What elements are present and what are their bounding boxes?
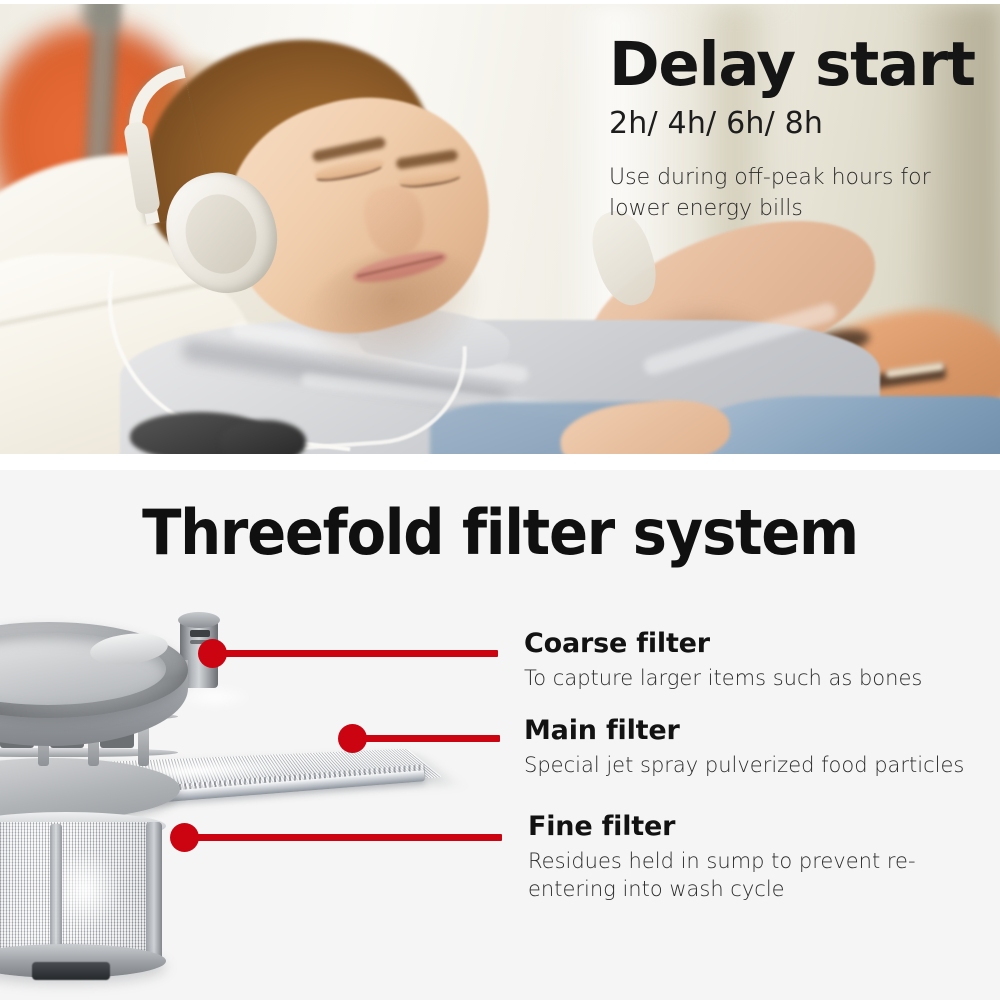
callout-dot-main bbox=[338, 724, 367, 753]
fine-filter-title: Fine filter bbox=[528, 811, 998, 843]
filter-post-slot bbox=[190, 630, 210, 637]
main-filter-title: Main filter bbox=[524, 715, 994, 747]
product-feature-page: Delay start 2h/ 4h/ 6h/ 8h Use during of… bbox=[0, 0, 1000, 1000]
fine-filter-frame bbox=[146, 822, 162, 964]
main-filter-text: Main filter Special jet spray pulverized… bbox=[524, 715, 994, 779]
denim-jeans bbox=[700, 396, 1000, 454]
callout-line-coarse bbox=[212, 650, 498, 657]
second-headphones-cup bbox=[220, 420, 306, 454]
panel-divider bbox=[0, 454, 1000, 470]
filter-system-panel: Threefold filter system bbox=[0, 470, 1000, 1000]
callout-dot-fine bbox=[170, 823, 199, 852]
callout-dot-coarse bbox=[198, 639, 227, 668]
callout-line-fine bbox=[184, 834, 502, 841]
filter-assembly-photo bbox=[0, 600, 500, 1000]
main-filter-description: Special jet spray pulverized food partic… bbox=[524, 751, 994, 779]
delay-start-description: Use during off-peak hours for lower ener… bbox=[609, 162, 949, 224]
delay-start-headline: Delay start bbox=[609, 34, 989, 95]
fine-filter-text: Fine filter Residues held in sump to pre… bbox=[528, 811, 998, 903]
filter-post-cap bbox=[178, 612, 220, 628]
delay-start-copy: Delay start 2h/ 4h/ 6h/ 8h Use during of… bbox=[609, 34, 989, 224]
coarse-filter-text: Coarse filter To capture larger items su… bbox=[524, 628, 994, 692]
delay-start-hours: 2h/ 4h/ 6h/ 8h bbox=[609, 106, 989, 141]
coarse-filter-title: Coarse filter bbox=[524, 628, 994, 660]
delay-start-panel: Delay start 2h/ 4h/ 6h/ 8h Use during of… bbox=[0, 4, 1000, 454]
fine-filter-frame bbox=[50, 824, 62, 962]
callout-line-main bbox=[352, 735, 500, 742]
fine-filter-tab bbox=[32, 962, 110, 980]
filter-system-headline: Threefold filter system bbox=[35, 496, 965, 569]
coarse-filter-description: To capture larger items such as bones bbox=[524, 664, 994, 692]
fine-filter-description: Residues held in sump to prevent re-ente… bbox=[528, 847, 998, 903]
